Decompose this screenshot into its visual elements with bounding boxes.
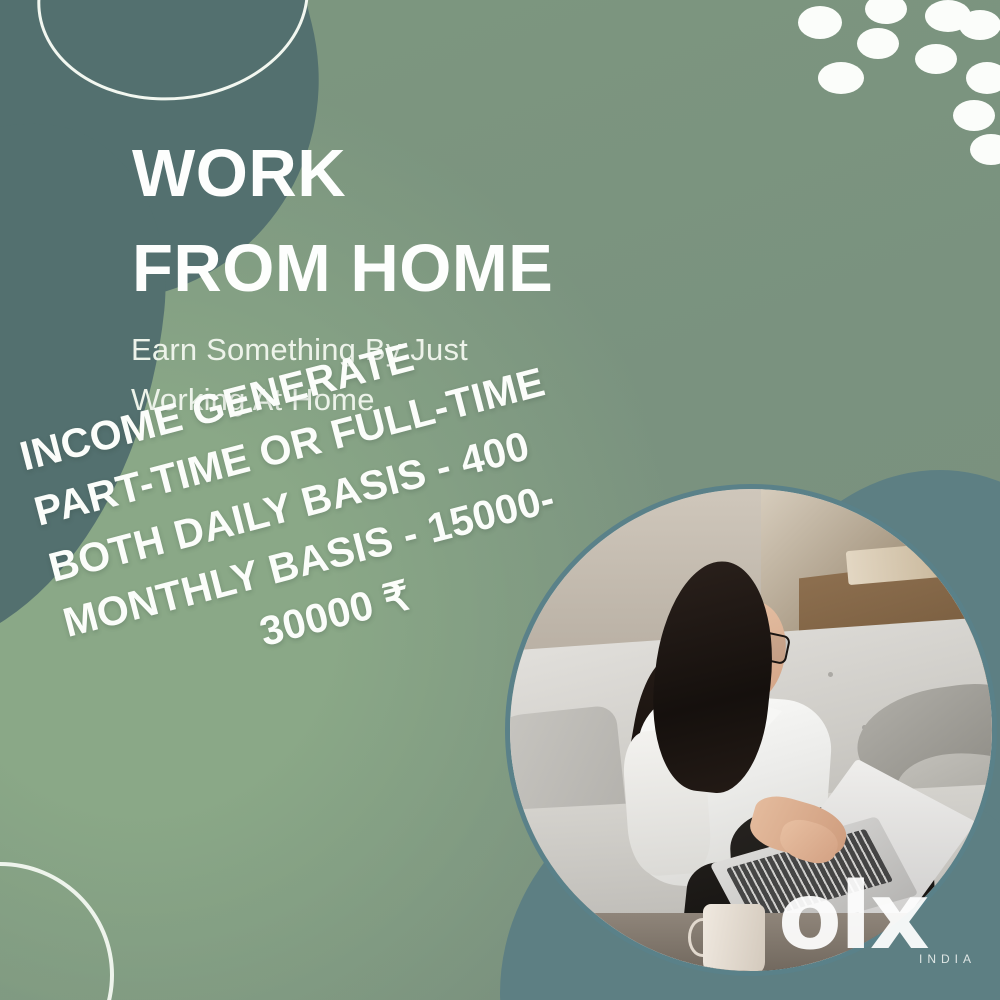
- decorative-dots-cluster: [770, 0, 1000, 230]
- decorative-dot: [959, 10, 1000, 40]
- headline-line-2: FROM HOME: [132, 221, 553, 316]
- headline-line-1: WORK: [132, 126, 553, 221]
- decorative-dot: [818, 62, 864, 94]
- photo-mug: [703, 904, 766, 971]
- decorative-dot: [798, 6, 842, 39]
- olx-region-label: INDIA: [919, 952, 976, 966]
- decorative-dot: [865, 0, 907, 24]
- page-title: WORK FROM HOME: [132, 126, 553, 316]
- olx-logo-text: olx: [778, 872, 928, 960]
- decorative-dot: [966, 62, 1000, 94]
- decorative-dot: [857, 28, 899, 59]
- decorative-dot: [970, 134, 1000, 165]
- decorative-dot: [953, 100, 995, 131]
- work-from-home-poster: WORK FROM HOME Earn Something By Just Wo…: [0, 0, 1000, 1000]
- olx-watermark: olx INDIA: [778, 872, 988, 972]
- decorative-dot: [915, 44, 957, 74]
